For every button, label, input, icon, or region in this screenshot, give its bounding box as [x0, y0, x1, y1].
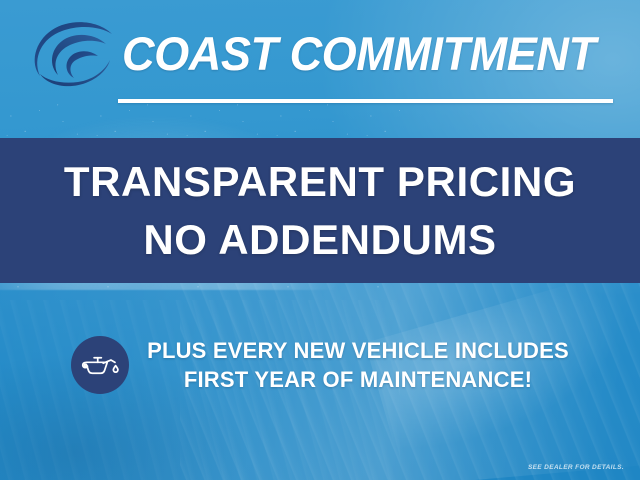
header-divider [118, 99, 613, 103]
headline-line-2: NO ADDENDUMS [143, 215, 496, 265]
oil-can-icon [71, 336, 129, 394]
maintenance-promo: PLUS EVERY NEW VEHICLE INCLUDES FIRST YE… [0, 325, 640, 405]
headline-band: TRANSPARENT PRICING NO ADDENDUMS [0, 138, 640, 283]
brand-title: COAST COMMITMENT [122, 26, 597, 82]
banner-header: COAST COMMITMENT [0, 0, 640, 110]
promo-text: PLUS EVERY NEW VEHICLE INCLUDES FIRST YE… [147, 336, 569, 394]
coast-wave-logo-icon [26, 18, 118, 90]
headline-line-1: TRANSPARENT PRICING [64, 157, 576, 207]
promo-line-1: PLUS EVERY NEW VEHICLE INCLUDES [147, 336, 569, 365]
promo-line-2: FIRST YEAR OF MAINTENANCE! [147, 365, 569, 394]
disclaimer-text: SEE DEALER FOR DETAILS. [528, 464, 624, 471]
coast-commitment-banner: COAST COMMITMENT TRANSPARENT PRICING NO … [0, 0, 640, 480]
